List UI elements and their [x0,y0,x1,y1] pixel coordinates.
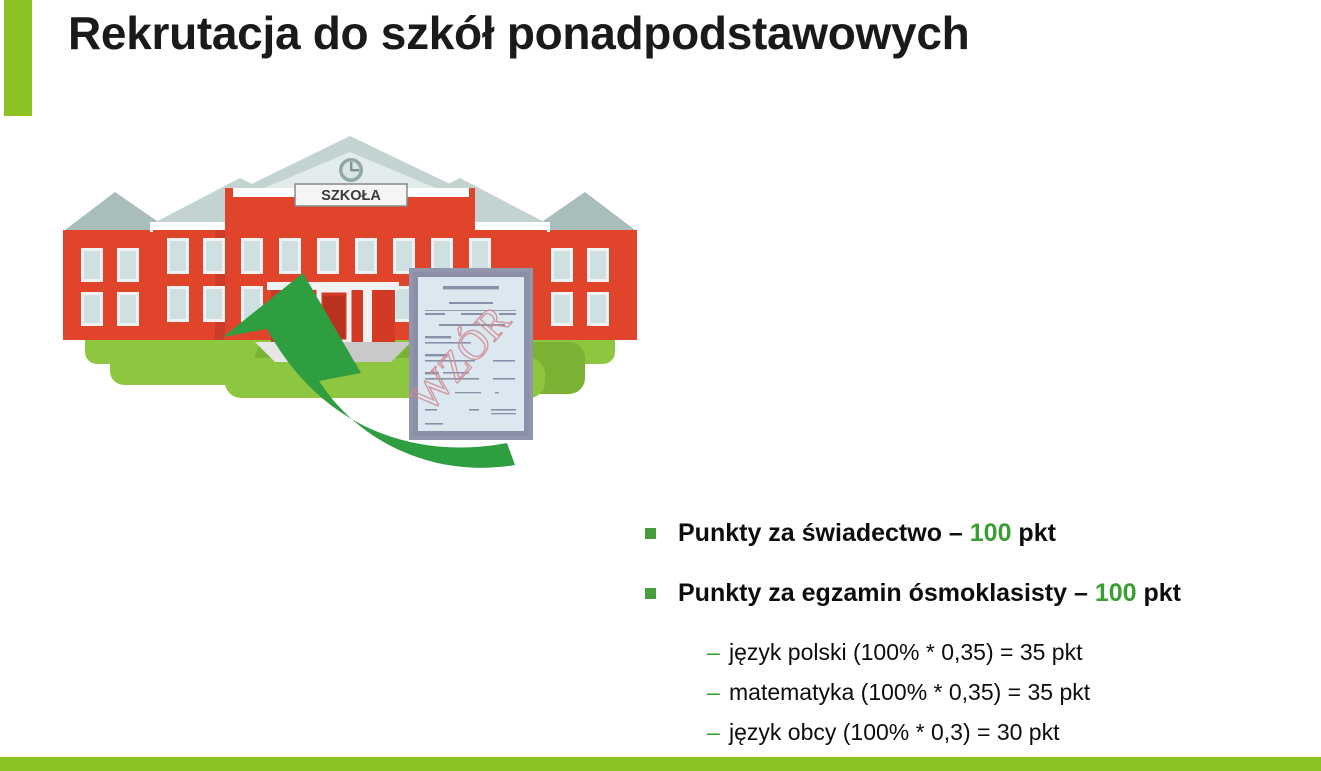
sub-bullet-label: język polski (100% * 0,35) = 35 pkt [729,635,1083,669]
bottom-accent-bar [0,757,1321,771]
sub-bullet-matematyka: – matematyka (100% * 0,35) = 35 pkt [707,675,1315,709]
square-bullet-icon [645,528,656,539]
dash-bullet-icon: – [707,635,729,669]
bullet-points-value: 100 [1095,579,1137,607]
sub-bullet-jezyk-obcy: – język obcy (100% * 0,3) = 30 pkt [707,715,1315,749]
sub-points-list: – język polski (100% * 0,35) = 35 pkt – … [707,635,1315,749]
dash-bullet-icon: – [707,715,729,749]
sub-bullet-label: matematyka (100% * 0,35) = 35 pkt [729,675,1090,709]
bullet-text-swiadectwo: Punkty za świadectwo – 100 pkt [678,515,1056,551]
title-accent-bar [4,0,32,116]
sub-bullet-label: język obcy (100% * 0,3) = 30 pkt [729,715,1059,749]
bullet-text-egzamin: Punkty za egzamin ósmoklasisty – 100 pkt [678,579,1181,607]
page-title: Rekrutacja do szkół ponadpodstawowych [68,2,1268,64]
slide-canvas: Rekrutacja do szkół ponadpodstawowych [0,0,1321,771]
bullet-points-value: 100 [970,519,1012,547]
points-list: Punkty za świadectwo – 100 pkt Punkty za… [645,515,1315,749]
square-bullet-icon [645,588,656,599]
sub-bullet-jezyk-polski: – język polski (100% * 0,35) = 35 pkt [707,635,1315,669]
school-sign-label: SZKOŁA [321,188,381,204]
dash-bullet-icon: – [707,675,729,709]
bullet-label-before: Punkty za egzamin ósmoklasisty – [678,579,1095,607]
bullet-item-egzamin: Punkty za egzamin ósmoklasisty – 100 pkt [645,575,1315,611]
bullet-item-swiadectwo: Punkty za świadectwo – 100 pkt [645,515,1315,551]
curved-arrow [215,255,515,505]
curved-arrow-up-icon [215,255,515,505]
bullet-label-after: pkt [1011,519,1055,547]
bullet-label-after: pkt [1137,579,1181,607]
bullet-label-before: Punkty za świadectwo – [678,519,970,547]
